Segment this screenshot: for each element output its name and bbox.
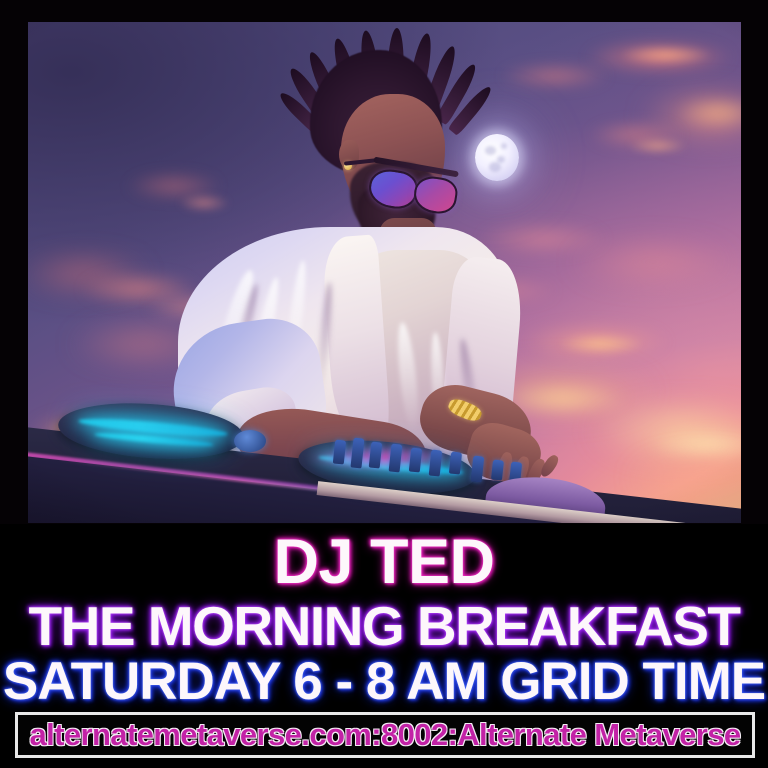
dj-artwork-panel [28, 22, 741, 523]
dj-event-poster: DJ TED THE MORNING BREAKFAST SATURDAY 6 … [0, 0, 768, 768]
show-time-headline: SATURDAY 6 - 8 AM GRID TIME [0, 654, 768, 710]
show-title-headline: THE MORNING BREAKFAST [0, 597, 768, 655]
dj-name-headline: DJ TED [0, 530, 768, 594]
url-bar-text[interactable]: alternatemetaverse.com:8002:Alternate Me… [29, 717, 740, 753]
artwork-vignette [28, 22, 741, 523]
url-bar[interactable]: alternatemetaverse.com:8002:Alternate Me… [15, 712, 755, 758]
